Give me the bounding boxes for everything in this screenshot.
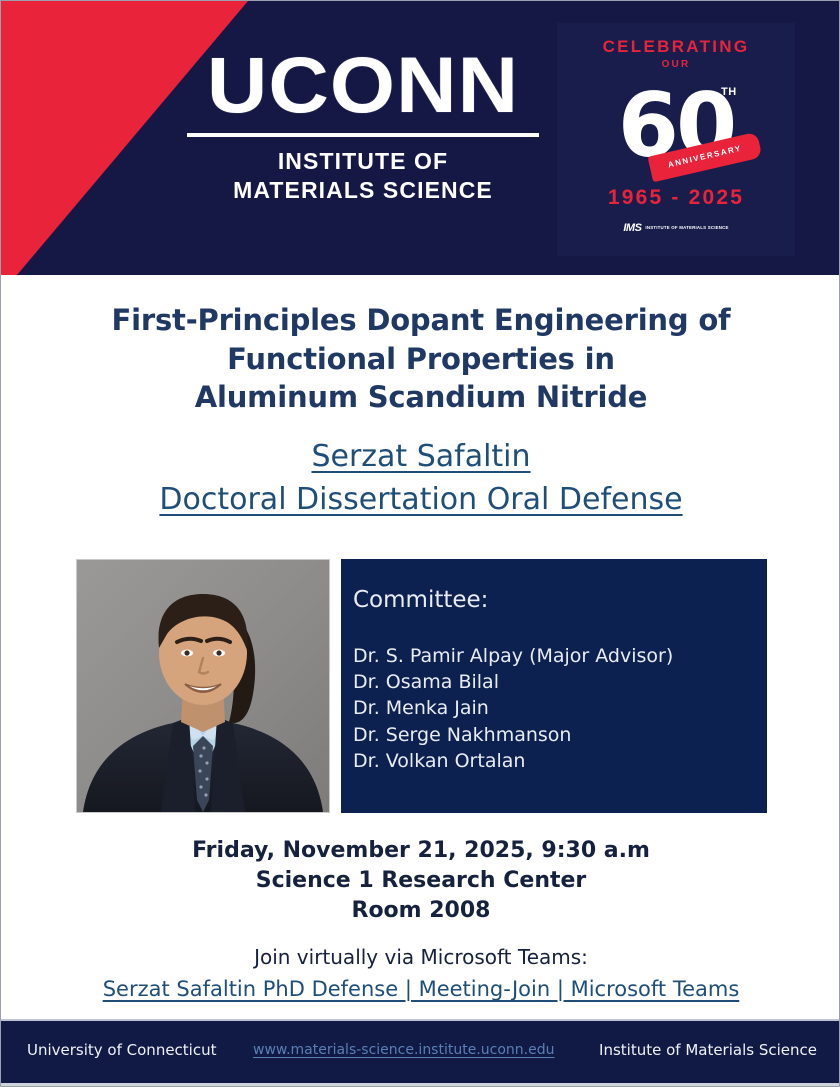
- committee-member: Dr. Osama Bilal: [353, 669, 767, 695]
- footer-bar: University of Connecticut www.materials-…: [1, 1019, 840, 1086]
- committee-member: Dr. Serge Nakhmanson: [353, 722, 767, 748]
- event-building: Science 1 Research Center: [71, 866, 771, 896]
- join-virtually-label: Join virtually via Microsoft Teams:: [71, 944, 771, 970]
- committee-panel: Committee: Dr. S. Pamir Alpay (Major Adv…: [341, 559, 767, 813]
- talk-title-line1: First-Principles Dopant Engineering of: [71, 301, 771, 340]
- anniversary-badge: CELEBRATING OUR 60 TH ANNIVERSARY 1965 -…: [557, 23, 795, 256]
- badge-ordinal-th: TH: [721, 86, 737, 98]
- logo-subtitle-line1: INSTITUTE OF: [187, 147, 539, 176]
- teams-meeting-link[interactable]: Serzat Safaltin PhD Defense | Meeting-Jo…: [103, 976, 740, 1003]
- event-room: Room 2008: [71, 896, 771, 926]
- committee-member: Dr. Volkan Ortalan: [353, 748, 767, 774]
- talk-title-line3: Aluminum Scandium Nitride: [71, 378, 771, 417]
- event-details-block: Friday, November 21, 2025, 9:30 a.m Scie…: [71, 836, 771, 1004]
- ims-logo-text: INSTITUTE OF MATERIALS SCIENCE: [645, 225, 728, 231]
- uconn-wordmark: UCONN: [176, 49, 549, 122]
- committee-member: Dr. S. Pamir Alpay (Major Advisor): [353, 643, 767, 669]
- logo-divider-rule: [187, 133, 539, 137]
- footer-institute-name: Institute of Materials Science: [599, 1041, 817, 1059]
- portrait-illustration: [77, 560, 329, 812]
- header-banner: UCONN INSTITUTE OF MATERIALS SCIENCE CEL…: [1, 1, 840, 275]
- badge-year-range: 1965 - 2025: [557, 186, 795, 210]
- footer-website-link[interactable]: www.materials-science.institute.uconn.ed…: [253, 1042, 554, 1058]
- ims-logo-icon: IMS INSTITUTE OF MATERIALS SCIENCE: [623, 222, 728, 234]
- footer-university-name: University of Connecticut: [27, 1041, 217, 1059]
- uconn-logo: UCONN INSTITUTE OF MATERIALS SCIENCE: [187, 49, 539, 206]
- presenter-block: Serzat Safaltin Doctoral Dissertation Or…: [71, 435, 771, 521]
- presenter-photo: [76, 559, 330, 813]
- committee-heading: Committee:: [353, 587, 767, 615]
- committee-member-list: Dr. S. Pamir Alpay (Major Advisor) Dr. O…: [353, 643, 767, 775]
- flyer-poster: UCONN INSTITUTE OF MATERIALS SCIENCE CEL…: [0, 0, 840, 1087]
- ims-monogram: IMS: [623, 222, 641, 234]
- talk-title-line2: Functional Properties in: [71, 340, 771, 379]
- badge-number-group: 60 TH ANNIVERSARY: [557, 72, 795, 180]
- badge-celebrating-text: CELEBRATING: [557, 37, 795, 57]
- presenter-role[interactable]: Doctoral Dissertation Oral Defense: [159, 478, 682, 521]
- talk-title-block: First-Principles Dopant Engineering of F…: [71, 301, 771, 417]
- committee-member: Dr. Menka Jain: [353, 695, 767, 721]
- presenter-name[interactable]: Serzat Safaltin: [311, 435, 530, 478]
- event-datetime: Friday, November 21, 2025, 9:30 a.m: [71, 836, 771, 866]
- logo-subtitle-line2: MATERIALS SCIENCE: [187, 176, 539, 205]
- badge-our-text: OUR: [557, 59, 795, 70]
